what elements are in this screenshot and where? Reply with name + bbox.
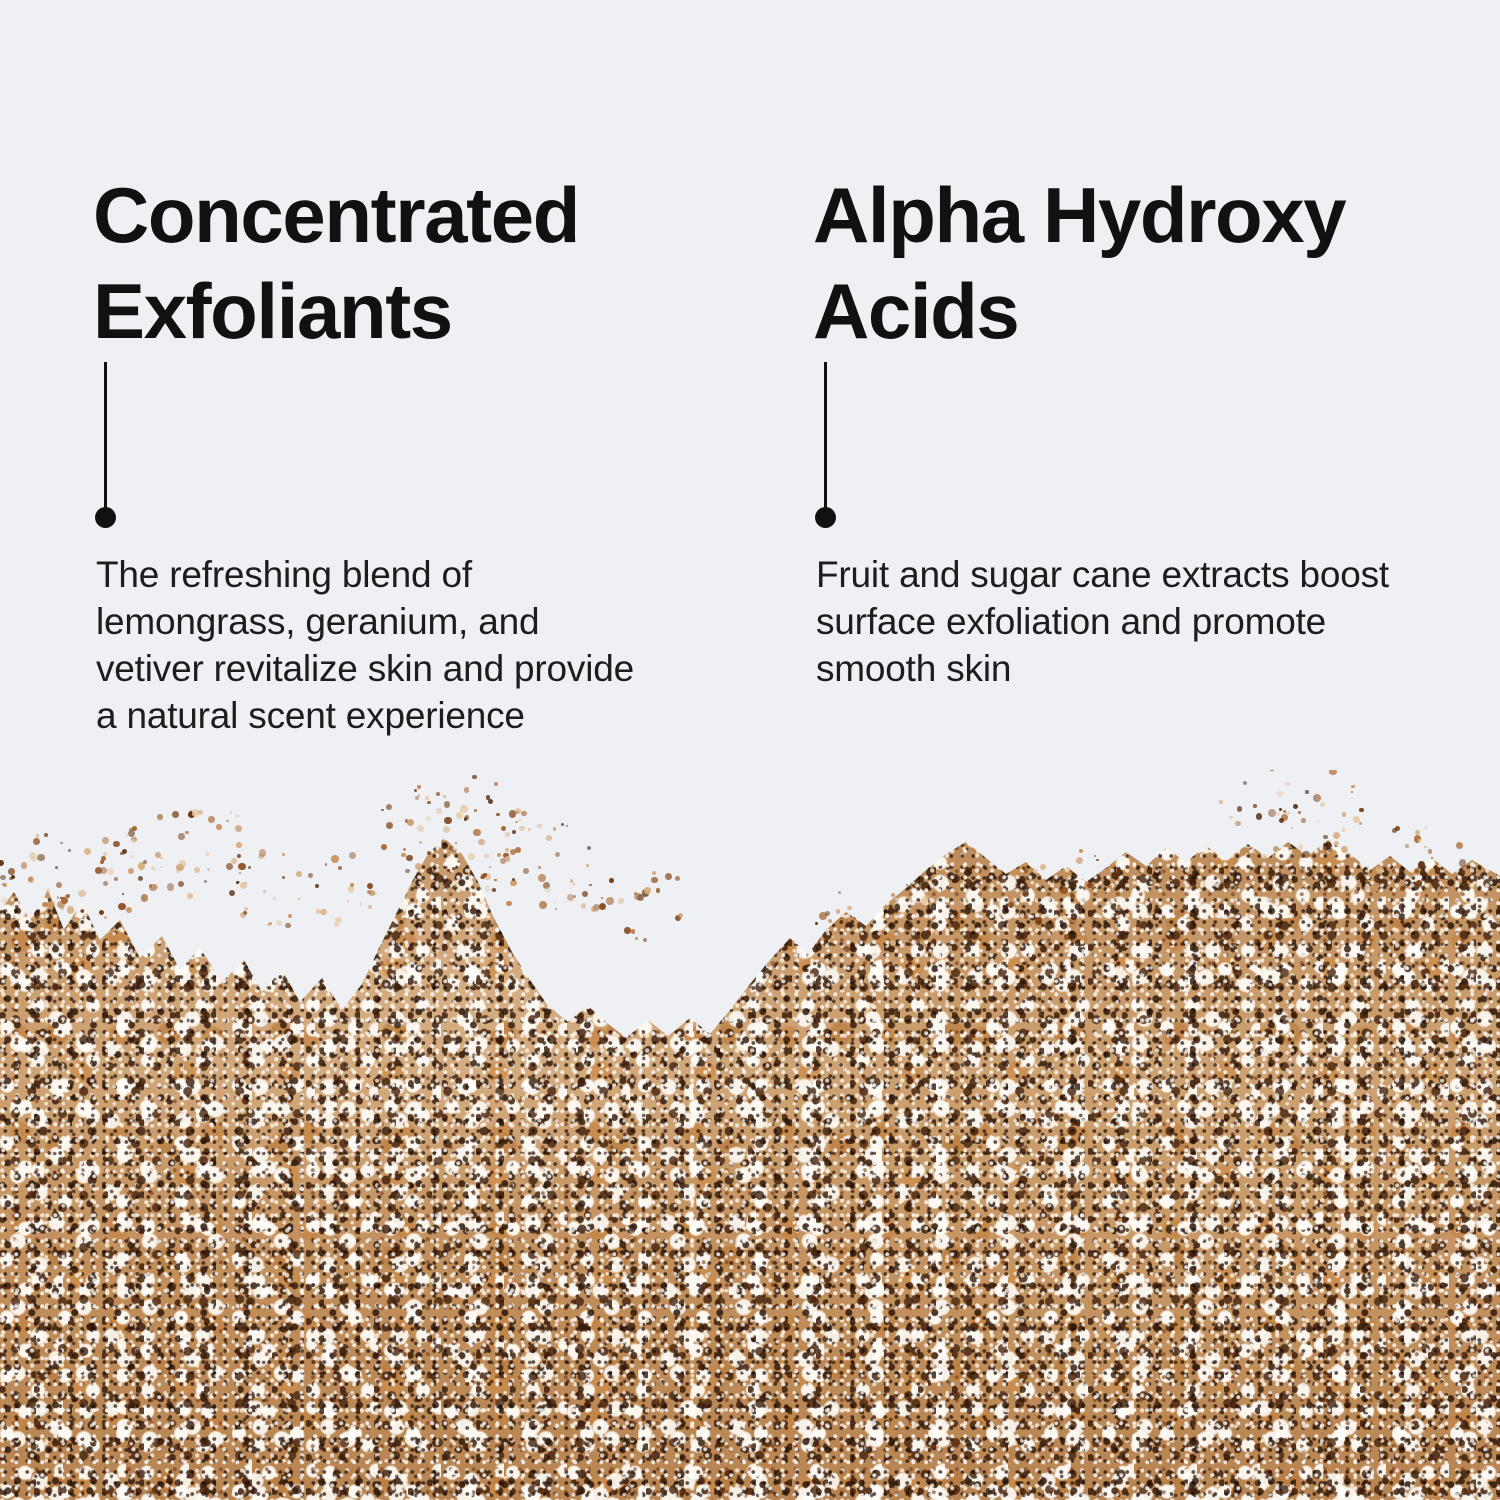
feature-description: Fruit and sugar cane extracts boost surf… xyxy=(816,551,1416,692)
pointer-dot xyxy=(95,507,116,528)
pointer-stem xyxy=(824,362,827,512)
pointer-stem xyxy=(104,362,107,512)
product-feature-panel: Concentrated Exfoliants The refreshing b… xyxy=(0,0,1500,1500)
sugar-scrub-texture-image xyxy=(0,770,1500,1500)
pointer-dot xyxy=(815,507,836,528)
scrub-loose-crumbs xyxy=(0,770,1500,1030)
feature-heading: Concentrated Exfoliants xyxy=(93,167,579,359)
feature-description: The refreshing blend of lemongrass, gera… xyxy=(96,551,656,739)
feature-heading: Alpha Hydroxy Acids xyxy=(813,167,1345,359)
pointer-line-icon xyxy=(93,362,117,528)
pointer-line-icon xyxy=(813,362,837,528)
